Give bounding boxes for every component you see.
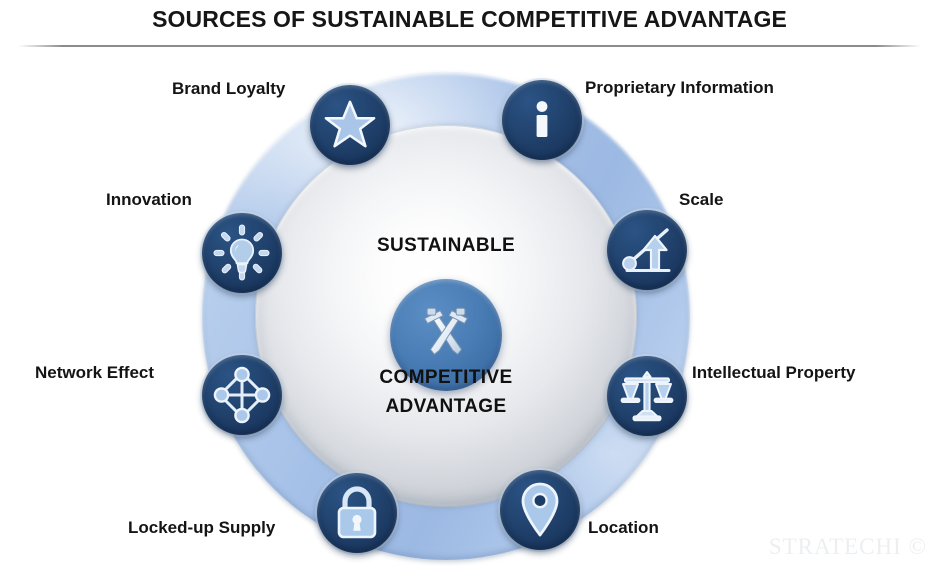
- source-badge-proprietary-information[interactable]: [502, 80, 582, 160]
- source-badge-location[interactable]: [500, 470, 580, 550]
- source-badge-scale[interactable]: [607, 210, 687, 290]
- source-badge-brand-loyalty[interactable]: [310, 85, 390, 165]
- source-badge-intellectual-property[interactable]: [607, 356, 687, 436]
- source-label-brand-loyalty: Brand Loyalty: [172, 79, 285, 99]
- source-label-locked-up-supply: Locked-up Supply: [128, 518, 275, 538]
- padlock-icon: [331, 485, 383, 541]
- page-title: SOURCES OF SUSTAINABLE COMPETITIVE ADVAN…: [0, 6, 939, 33]
- watermark: STRATECHI ©: [769, 534, 927, 560]
- center-bottom-line-1: COMPETITIVE: [379, 367, 512, 388]
- source-badge-locked-up-supply[interactable]: [317, 473, 397, 553]
- crossed-swords-icon: [415, 302, 477, 369]
- center-bottom-line-2: ADVANTAGE: [385, 396, 506, 417]
- source-label-innovation: Innovation: [106, 190, 192, 210]
- center-bottom-label: COMPETITIVEADVANTAGE: [255, 363, 637, 421]
- balance-scales-icon: [618, 367, 676, 425]
- circular-diagram: SUSTAINABLE: [196, 66, 696, 566]
- network-nodes-icon: [213, 366, 271, 424]
- growth-arrow-icon: [618, 221, 676, 279]
- info-icon: [519, 97, 565, 143]
- title-bar: SOURCES OF SUSTAINABLE COMPETITIVE ADVAN…: [0, 0, 939, 52]
- star-icon: [323, 98, 377, 152]
- lightbulb-icon: [212, 223, 272, 283]
- center-top-label: SUSTAINABLE: [255, 235, 637, 257]
- source-label-proprietary-information: Proprietary Information: [585, 78, 774, 98]
- source-label-scale: Scale: [679, 190, 723, 210]
- map-pin-icon: [517, 481, 563, 539]
- title-divider: [18, 45, 921, 47]
- source-label-location: Location: [588, 518, 659, 538]
- source-badge-innovation[interactable]: [202, 213, 282, 293]
- source-badge-network-effect[interactable]: [202, 355, 282, 435]
- source-label-intellectual-property: Intellectual Property: [692, 363, 855, 383]
- source-label-network-effect: Network Effect: [35, 363, 154, 383]
- slide-canvas: SOURCES OF SUSTAINABLE COMPETITIVE ADVAN…: [0, 0, 939, 566]
